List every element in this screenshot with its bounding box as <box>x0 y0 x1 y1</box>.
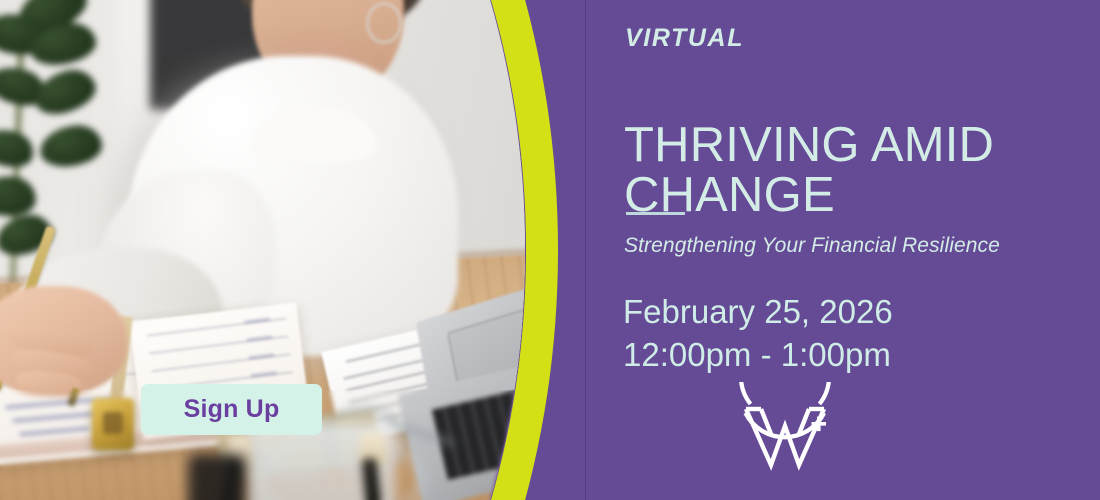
photo-plant-leaf <box>38 123 104 169</box>
photo-person-earring <box>366 2 402 44</box>
panel-divider-line <box>585 0 586 500</box>
photo-notebook-writing <box>20 427 90 436</box>
photo-foreground-object <box>188 454 246 500</box>
w-plus-logo-icon <box>733 382 837 486</box>
photo-plant-leaf <box>30 64 101 120</box>
event-format-label: VIRTUAL <box>625 24 744 53</box>
event-promo-banner: VIRTUAL THRIVING AMID CHANGE Strengtheni… <box>0 0 1100 500</box>
title-underline-rule <box>626 212 685 215</box>
event-title: THRIVING AMID CHANGE <box>624 120 1064 220</box>
photo-plant-leaf <box>0 172 39 220</box>
event-date: February 25, 2026 <box>623 290 893 333</box>
sign-up-button[interactable]: Sign Up <box>141 384 322 435</box>
event-time: 12:00pm - 1:00pm <box>623 333 893 376</box>
photo-binder-clip-hole <box>103 412 123 434</box>
event-subtitle: Strengthening Your Financial Resilience <box>624 234 1000 258</box>
event-datetime: February 25, 2026 12:00pm - 1:00pm <box>623 290 893 376</box>
photo-receipt-line <box>346 342 428 363</box>
